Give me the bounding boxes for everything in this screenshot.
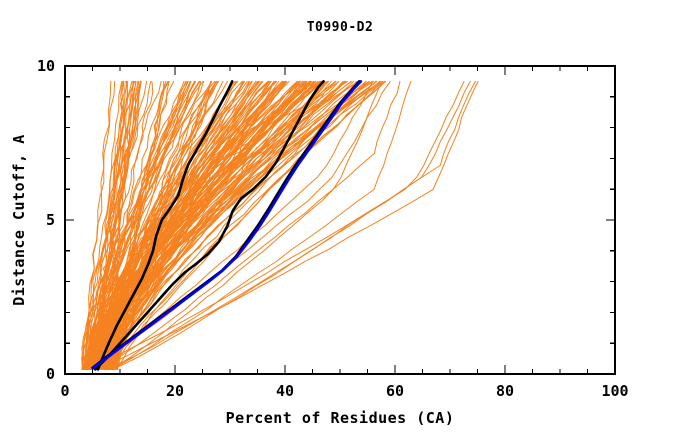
x-axis-label: Percent of Residues (CA) bbox=[226, 409, 455, 427]
plot-svg: T0990-D2 0204060801000510 Percent of Res… bbox=[0, 0, 680, 440]
x-tick-label-40: 40 bbox=[276, 382, 294, 400]
page-title: T0990-D2 bbox=[307, 20, 374, 35]
x-tick-label-20: 20 bbox=[166, 382, 184, 400]
x-tick-label-60: 60 bbox=[386, 382, 404, 400]
y-axis-label: Distance Cutoff, A bbox=[10, 134, 28, 306]
chart-container: T0990-D2 0204060801000510 Percent of Res… bbox=[0, 0, 680, 440]
x-tick-label-80: 80 bbox=[496, 382, 514, 400]
y-tick-label-10: 10 bbox=[37, 57, 55, 75]
x-tick-label-100: 100 bbox=[601, 382, 628, 400]
x-tick-label-0: 0 bbox=[60, 382, 69, 400]
y-tick-label-0: 0 bbox=[46, 365, 55, 383]
y-tick-label-5: 5 bbox=[46, 211, 55, 229]
